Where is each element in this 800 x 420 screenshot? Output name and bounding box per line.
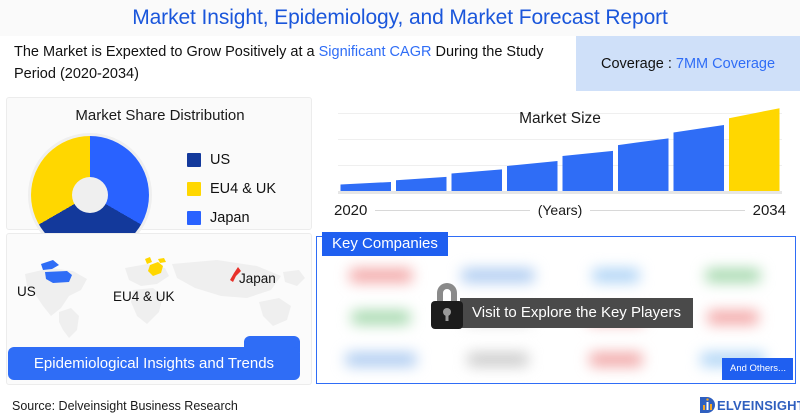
donut-hole: [72, 177, 108, 213]
legend-label-japan: Japan: [210, 210, 250, 226]
legend-label-eu4-uk: EU4 & UK: [210, 181, 276, 197]
us-map-highlight: [39, 260, 73, 286]
epidemiology-banner[interactable]: Epidemiological Insights and Trends: [8, 347, 300, 380]
axis-label-start: 2020: [334, 202, 367, 219]
legend-swatch-eu4-uk: [187, 182, 201, 196]
legend-item-japan: Japan: [187, 210, 276, 226]
legend-label-us: US: [210, 152, 230, 168]
company-logo-placeholder: [350, 269, 412, 282]
market-size-bars: [338, 104, 782, 192]
bar: [452, 169, 503, 192]
coverage-badge: Coverage : 7MM Coverage: [576, 36, 800, 91]
company-logo-placeholder: [462, 269, 534, 282]
bar: [674, 125, 725, 192]
map-label-japan: Japan: [239, 271, 276, 286]
market-size-chart: Market Size 2020 (Years) 2034: [326, 100, 794, 226]
logo-d-icon: [700, 396, 717, 414]
market-size-axis: 2020 (Years) 2034: [326, 199, 794, 221]
map-label-us: US: [17, 284, 36, 299]
delveinsight-logo: ELVEINSIGHT: [700, 396, 800, 414]
axis-label-end: 2034: [753, 202, 786, 219]
bar: [396, 177, 447, 192]
company-logo-placeholder: [708, 311, 758, 324]
market-share-title: Market Share Distribution: [7, 107, 313, 124]
subtitle-accent: Significant CAGR: [319, 44, 432, 60]
company-logo-placeholder: [590, 353, 642, 366]
coverage-label: Coverage :: [601, 56, 672, 72]
axis-rule-left: [375, 210, 529, 211]
axis-rule-right: [590, 210, 744, 211]
subtitle-strip: The Market is Expexted to Grow Positivel…: [0, 36, 800, 91]
map-label-eu4-uk: EU4 & UK: [113, 289, 175, 304]
eu4-uk-map-highlight: [141, 257, 167, 279]
axis-label-years: (Years): [538, 202, 583, 218]
subtitle-text-container: The Market is Expexted to Grow Positivel…: [0, 36, 576, 91]
company-logo-placeholder: [593, 269, 639, 282]
title-bar: Market Insight, Epidemiology, and Market…: [0, 0, 800, 36]
lock-icon: [425, 280, 469, 332]
report-infographic: Market Insight, Epidemiology, and Market…: [0, 0, 800, 420]
market-share-legend: US EU4 & UK Japan: [187, 152, 276, 239]
bar: [507, 161, 558, 192]
subtitle-text: The Market is Expexted to Grow Positivel…: [14, 42, 564, 84]
company-logo-placeholder: [352, 311, 410, 324]
page-title: Market Insight, Epidemiology, and Market…: [132, 6, 668, 30]
bar: [618, 138, 669, 192]
company-logo-placeholder: [468, 353, 528, 366]
chart-baseline: [338, 191, 782, 194]
key-companies-tooltip: Visit to Explore the Key Players: [460, 298, 693, 328]
legend-item-us: US: [187, 152, 276, 168]
key-companies-tab: Key Companies: [322, 232, 448, 256]
market-share-card: Market Share Distribution US EU4 & UK Ja…: [6, 97, 312, 230]
and-others-badge[interactable]: And Others...: [722, 358, 793, 380]
legend-swatch-us: [187, 153, 201, 167]
subtitle-part1: The Market is Expexted to Grow Positivel…: [14, 44, 319, 60]
legend-swatch-japan: [187, 211, 201, 225]
company-logo-placeholder: [346, 353, 416, 366]
bar: [563, 151, 614, 192]
company-logo-placeholder: [706, 269, 760, 282]
source-note: Source: Delveinsight Business Research: [12, 399, 238, 413]
logo-wordmark: ELVEINSIGHT: [717, 398, 800, 413]
bar: [729, 108, 780, 192]
coverage-value: 7MM Coverage: [676, 56, 775, 72]
legend-item-eu4-uk: EU4 & UK: [187, 181, 276, 197]
